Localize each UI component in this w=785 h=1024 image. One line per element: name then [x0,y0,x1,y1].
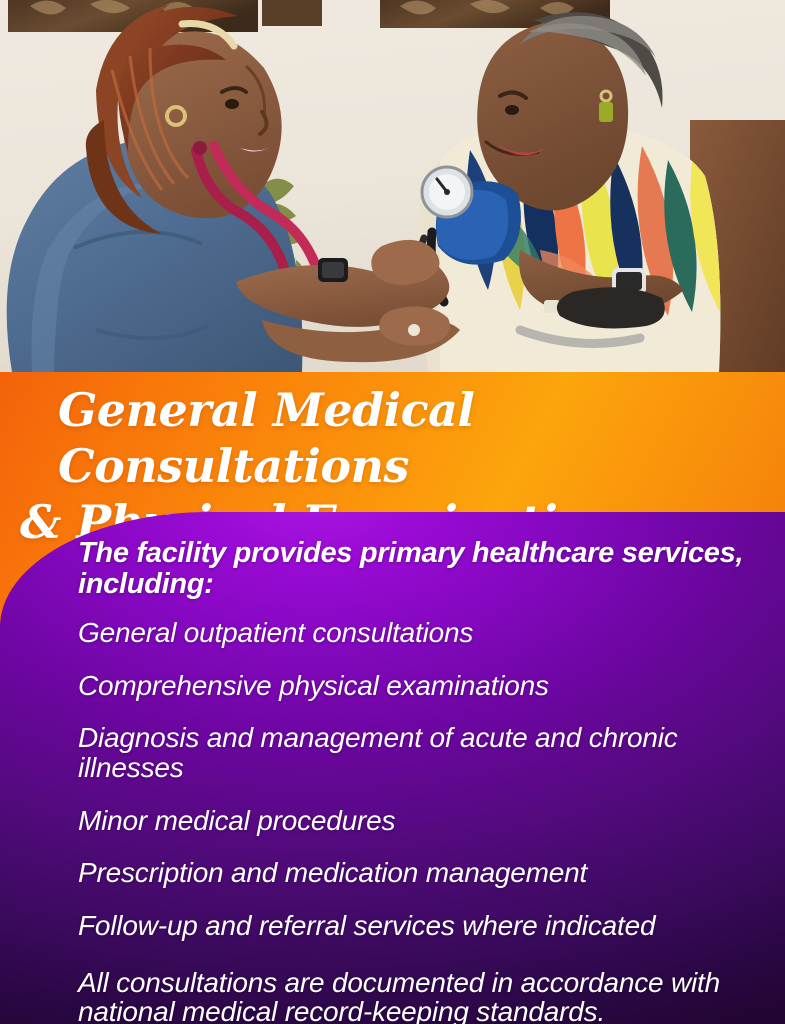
poster-title-line-1: General Medical Consultations [58,383,474,493]
list-item: Minor medical procedures [78,806,755,836]
documentation-note: All consultations are documented in acco… [78,968,755,1024]
services-list: General outpatient consultations Compreh… [78,618,755,941]
list-item: Diagnosis and management of acute and ch… [78,723,755,782]
services-intro: The facility provides primary healthcare… [78,538,755,600]
list-item: General outpatient consultations [78,618,755,648]
list-item: Comprehensive physical examinations [78,671,755,701]
clinic-consultation-photo [0,0,785,372]
list-item: Prescription and medication management [78,858,755,888]
service-poster: General Medical Consultations & Physical… [0,0,785,1024]
services-content: The facility provides primary healthcare… [0,512,785,1024]
list-item: Follow-up and referral services where in… [78,911,755,941]
services-panel: The facility provides primary healthcare… [0,512,785,1024]
